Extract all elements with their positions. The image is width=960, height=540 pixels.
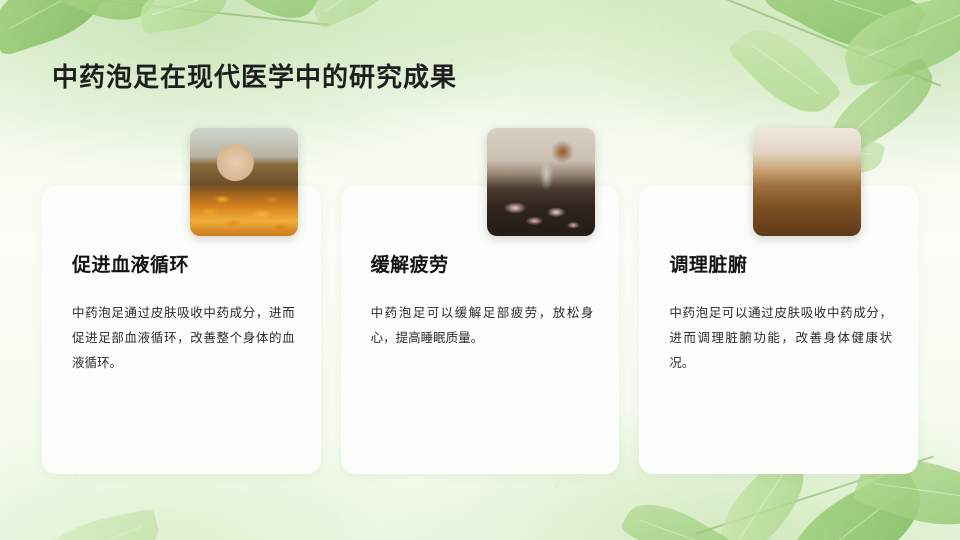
foot-bath-photo bbox=[753, 128, 861, 236]
card-body: 调理脏腑 中药泡足可以通过皮肤吸收中药成分，进而调理脏腑功能，改善身体健康状况。 bbox=[669, 250, 892, 376]
foot-bath-photo bbox=[190, 128, 298, 236]
card-image bbox=[753, 128, 861, 236]
card-item: 调理脏腑 中药泡足可以通过皮肤吸收中药成分，进而调理脏腑功能，改善身体健康状况。 bbox=[639, 186, 918, 474]
card-text: 中药泡足可以通过皮肤吸收中药成分，进而调理脏腑功能，改善身体健康状况。 bbox=[669, 301, 892, 376]
card-title: 缓解疲劳 bbox=[371, 250, 594, 277]
card-item: 缓解疲劳 中药泡足可以缓解足部疲劳，放松身心，提高睡眠质量。 bbox=[341, 186, 620, 474]
card-title: 促进血液循环 bbox=[72, 250, 295, 277]
card-text: 中药泡足通过皮肤吸收中药成分，进而促进足部血液循环，改善整个身体的血液循环。 bbox=[72, 301, 295, 376]
card-body: 缓解疲劳 中药泡足可以缓解足部疲劳，放松身心，提高睡眠质量。 bbox=[371, 250, 594, 351]
card-image bbox=[487, 128, 595, 236]
card-list: 促进血液循环 中药泡足通过皮肤吸收中药成分，进而促进足部血液循环，改善整个身体的… bbox=[42, 186, 918, 474]
foot-bath-photo bbox=[487, 128, 595, 236]
page-title: 中药泡足在现代医学中的研究成果 bbox=[52, 57, 457, 94]
card-body: 促进血液循环 中药泡足通过皮肤吸收中药成分，进而促进足部血液循环，改善整个身体的… bbox=[72, 250, 295, 376]
card-image bbox=[190, 128, 298, 236]
card-text: 中药泡足可以缓解足部疲劳，放松身心，提高睡眠质量。 bbox=[371, 301, 594, 351]
card-item: 促进血液循环 中药泡足通过皮肤吸收中药成分，进而促进足部血液循环，改善整个身体的… bbox=[42, 186, 321, 474]
slide: 中药泡足在现代医学中的研究成果 促进血液循环 中药泡足通过皮肤吸收中药成分，进而… bbox=[0, 0, 960, 540]
card-title: 调理脏腑 bbox=[669, 250, 892, 277]
